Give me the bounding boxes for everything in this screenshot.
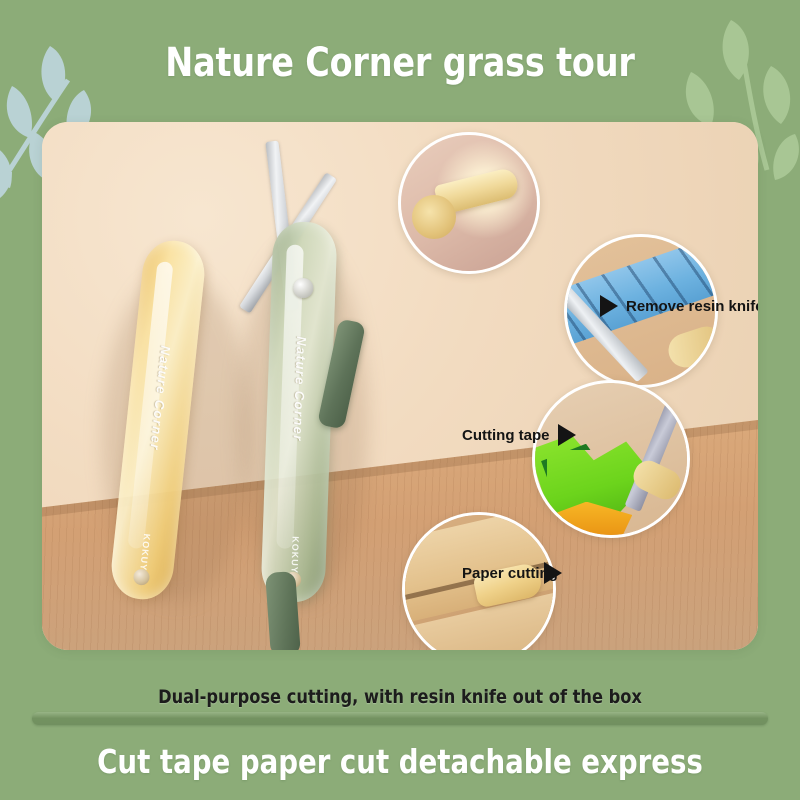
triangle-right-icon [600, 295, 618, 317]
feature-label-cutting-tape: Cutting tape [462, 424, 576, 446]
feature-photo-remove-resin-knife [398, 132, 540, 274]
feature-photo-paper-cutting [532, 380, 690, 538]
green-foot-tab [265, 571, 301, 650]
section-divider [32, 712, 768, 725]
feature-label-remove-resin-knife: Remove resin knife [600, 295, 758, 317]
product-promo-banner: Nature Corner grass tour Nature Corner K… [0, 0, 800, 800]
subtitle-text: Dual-purpose cutting, with resin knife o… [20, 686, 780, 708]
page-title: Nature Corner grass tour [28, 40, 772, 86]
triangle-right-icon [544, 562, 562, 584]
feature-label-text: Remove resin knife [626, 298, 758, 315]
feature-label-paper-cutting: Paper cutting [462, 562, 562, 584]
footer-tagline: Cut tape paper cut detachable express [28, 742, 772, 781]
feature-label-text: Cutting tape [462, 427, 550, 444]
hero-product-photo: Nature Corner KOKUYO Nature Corner KOKUY… [42, 122, 758, 650]
triangle-right-icon [558, 424, 576, 446]
resin-knife-hub [412, 195, 456, 239]
resin-knife-closeup-image [401, 135, 537, 271]
paper-cutting-image [535, 383, 687, 535]
tape-tool-grip [664, 322, 718, 372]
